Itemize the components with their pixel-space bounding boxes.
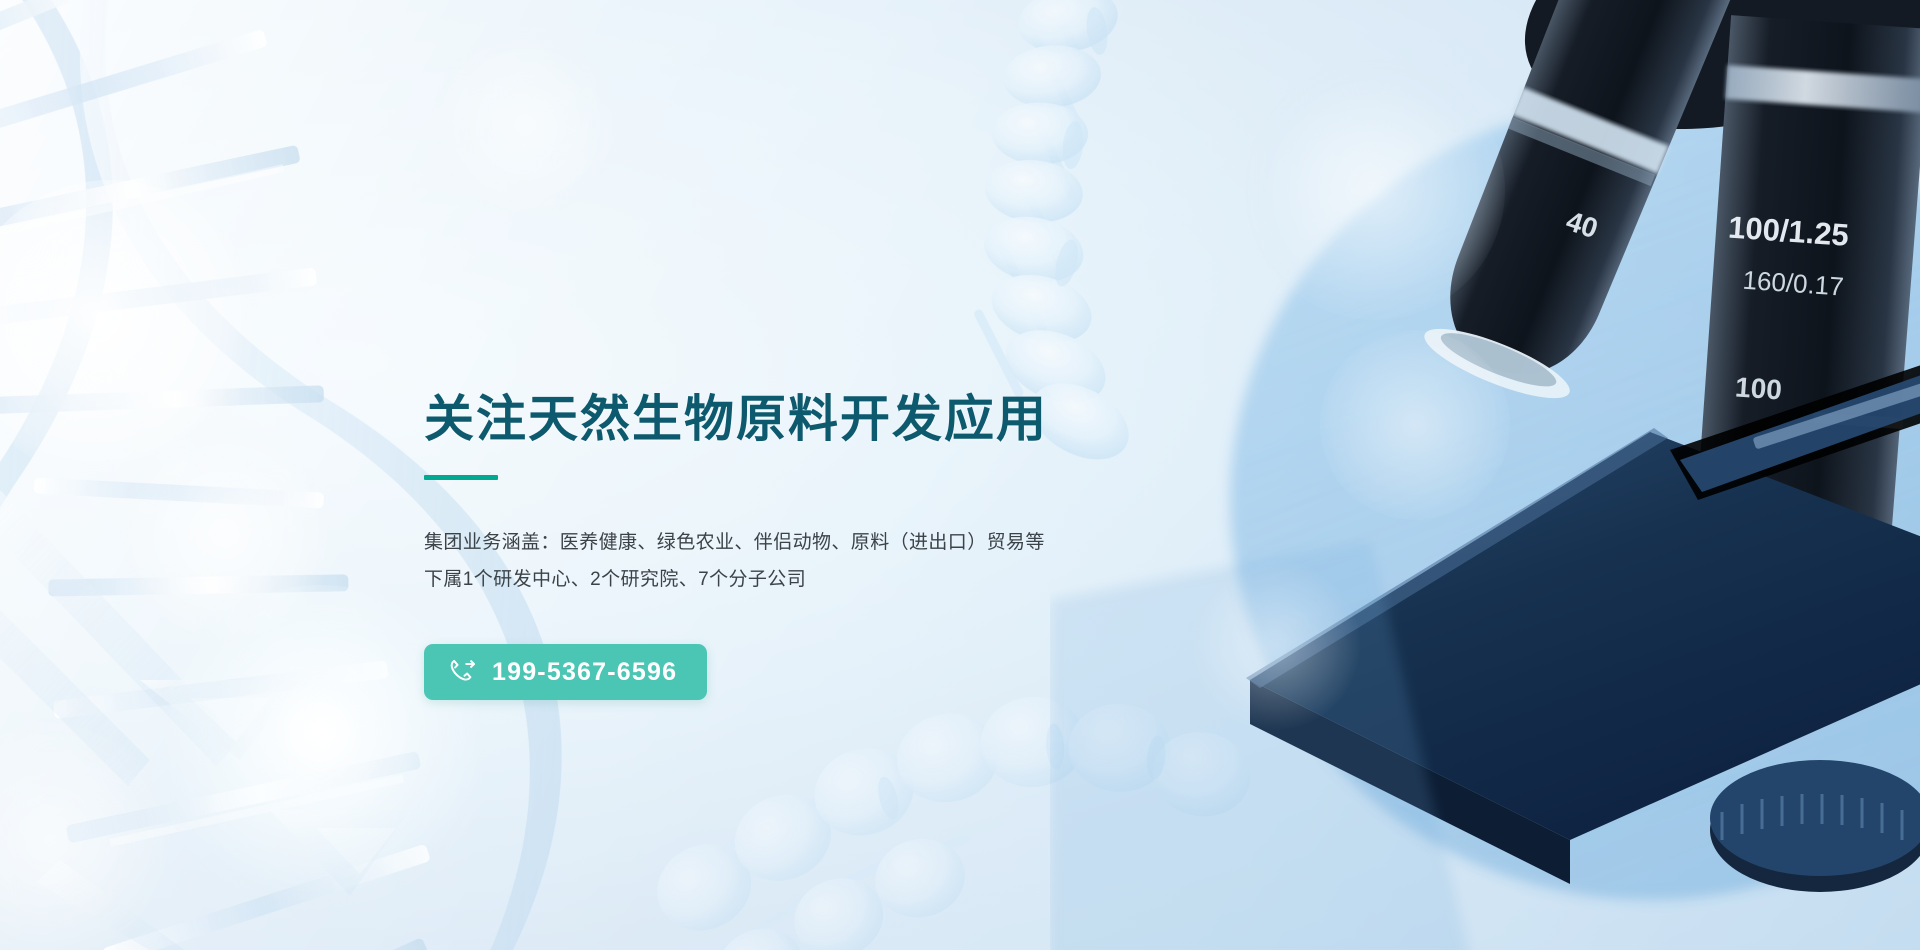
microscope-focus-knob xyxy=(1710,760,1920,892)
hero-description-line-2: 下属1个研发中心、2个研究院、7个分子公司 xyxy=(424,561,1244,598)
phone-call-button[interactable]: 199-5367-6596 xyxy=(424,644,707,700)
microscope-label-100: 100 xyxy=(1734,371,1783,405)
hero-description-line-1: 集团业务涵盖：医养健康、绿色农业、伴侣动物、原料（进出口）贸易等 xyxy=(424,524,1244,561)
page-title: 关注天然生物原料开发应用 xyxy=(424,392,1244,447)
title-underline-rule xyxy=(424,475,498,480)
phone-forward-icon xyxy=(448,657,478,687)
hero-banner: 40 100/1.25 160/0.17 100 xyxy=(0,0,1920,950)
hero-content: 关注天然生物原料开发应用 集团业务涵盖：医养健康、绿色农业、伴侣动物、原料（进出… xyxy=(424,392,1244,700)
phone-number-text: 199-5367-6596 xyxy=(492,660,677,685)
hero-description: 集团业务涵盖：医养健康、绿色农业、伴侣动物、原料（进出口）贸易等 下属1个研发中… xyxy=(424,524,1244,598)
